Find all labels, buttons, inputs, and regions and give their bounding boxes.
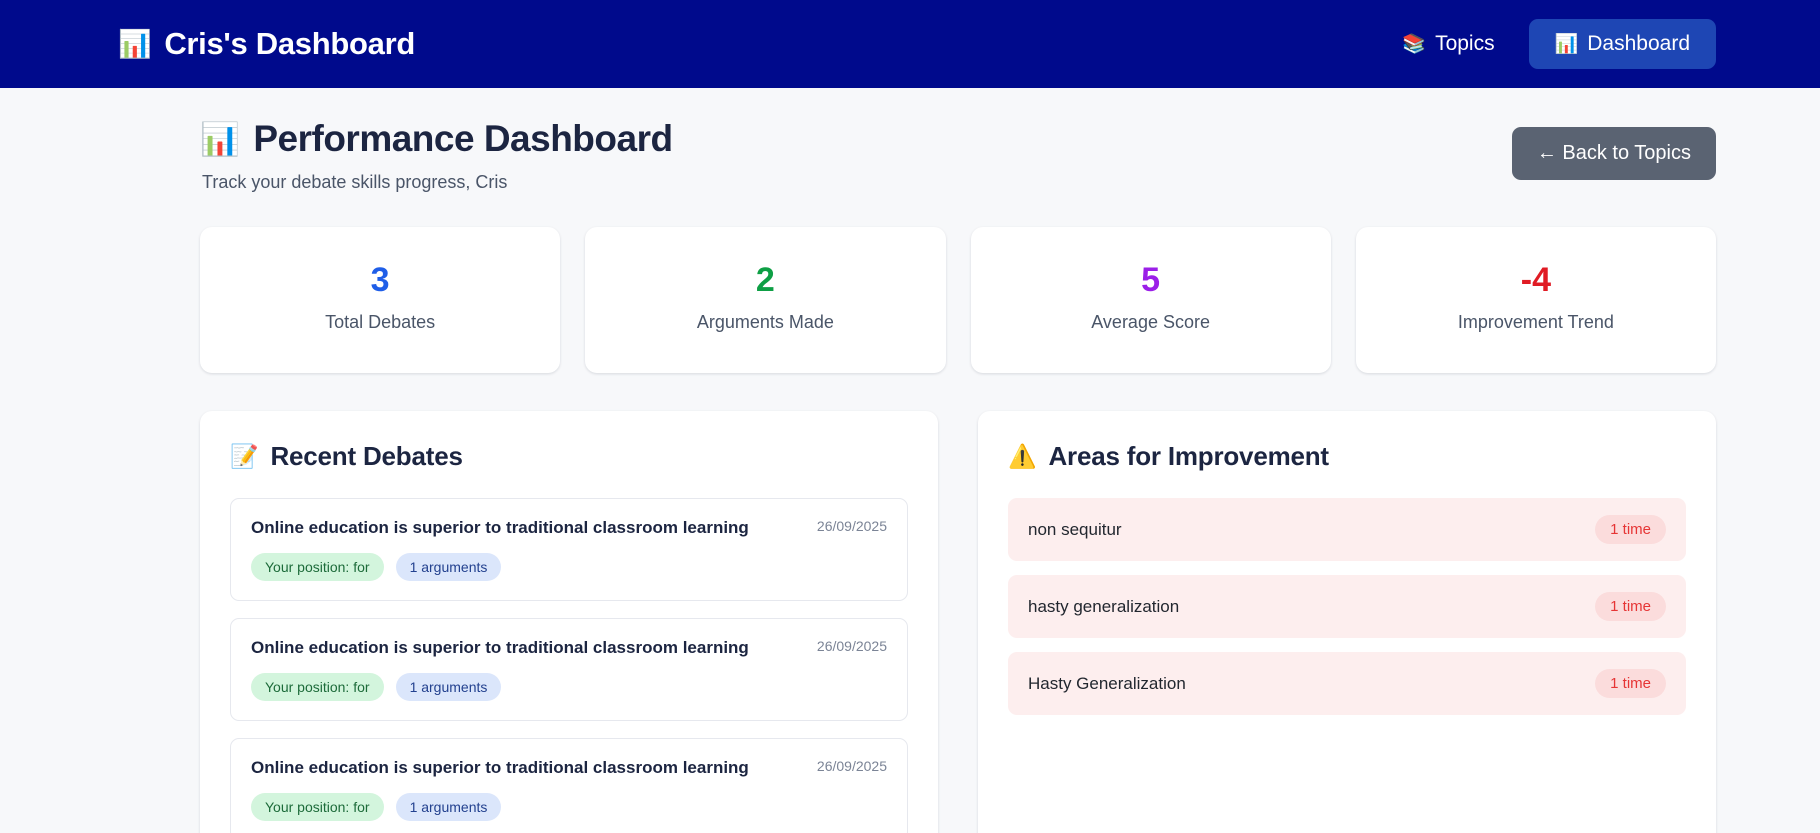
- nav-links: 📚 Topics 📊 Dashboard: [1388, 19, 1716, 69]
- bar-chart-icon: 📊: [118, 31, 151, 58]
- debate-row: Online education is superior to traditio…: [251, 517, 887, 539]
- debate-date: 26/09/2025: [817, 517, 887, 534]
- recent-debates-title-text: Recent Debates: [270, 441, 462, 472]
- areas-for-improvement-title-text: Areas for Improvement: [1048, 441, 1328, 472]
- stat-card-arguments-made: 2 Arguments Made: [585, 227, 945, 373]
- arguments-badge: 1 arguments: [396, 553, 502, 581]
- nav-item-topics-label: Topics: [1435, 32, 1495, 56]
- page-heading-group: 📊 Performance Dashboard Track your debat…: [200, 118, 673, 193]
- areas-for-improvement-panel: ⚠️ Areas for Improvement non sequitur 1 …: [978, 411, 1716, 833]
- debate-list-item[interactable]: Online education is superior to traditio…: [230, 498, 908, 601]
- page-header: 📊 Performance Dashboard Track your debat…: [200, 118, 1716, 193]
- stat-value: 2: [605, 261, 925, 300]
- stat-label: Arguments Made: [605, 312, 925, 333]
- memo-icon: 📝: [230, 445, 258, 468]
- debate-date: 26/09/2025: [817, 757, 887, 774]
- debate-badges: Your position: for 1 arguments: [251, 553, 887, 581]
- stat-value: -4: [1376, 261, 1696, 300]
- bar-chart-icon: 📊: [200, 123, 239, 155]
- panels: 📝 Recent Debates Online education is sup…: [200, 411, 1716, 833]
- back-to-topics-button[interactable]: ← Back to Topics: [1512, 127, 1716, 180]
- improvement-count-badge: 1 time: [1595, 669, 1666, 698]
- improvement-name: non sequitur: [1028, 520, 1122, 540]
- debate-title: Online education is superior to traditio…: [251, 757, 749, 779]
- debate-list-item[interactable]: Online education is superior to traditio…: [230, 618, 908, 721]
- page-title: 📊 Performance Dashboard: [200, 118, 673, 160]
- position-badge: Your position: for: [251, 553, 384, 581]
- brand-title: Cris's Dashboard: [164, 26, 415, 62]
- nav-item-dashboard[interactable]: 📊 Dashboard: [1529, 19, 1716, 69]
- recent-debates-title: 📝 Recent Debates: [230, 441, 908, 472]
- stat-label: Total Debates: [220, 312, 540, 333]
- bar-chart-icon: 📊: [1555, 35, 1579, 54]
- arguments-badge: 1 arguments: [396, 793, 502, 821]
- warning-icon: ⚠️: [1008, 445, 1036, 468]
- page-title-text: Performance Dashboard: [253, 118, 672, 160]
- improvement-list-item: hasty generalization 1 time: [1008, 575, 1686, 638]
- debate-list-item[interactable]: Online education is superior to traditio…: [230, 738, 908, 833]
- stat-value: 5: [991, 261, 1311, 300]
- debate-date: 26/09/2025: [817, 637, 887, 654]
- improvement-name: Hasty Generalization: [1028, 674, 1186, 694]
- nav-item-topics[interactable]: 📚 Topics: [1388, 22, 1508, 66]
- books-icon: 📚: [1402, 35, 1426, 54]
- stat-label: Improvement Trend: [1376, 312, 1696, 333]
- debate-title: Online education is superior to traditio…: [251, 517, 749, 539]
- debate-badges: Your position: for 1 arguments: [251, 793, 887, 821]
- nav-item-dashboard-label: Dashboard: [1587, 32, 1690, 56]
- areas-for-improvement-title: ⚠️ Areas for Improvement: [1008, 441, 1686, 472]
- stat-card-average-score: 5 Average Score: [971, 227, 1331, 373]
- page-subtitle: Track your debate skills progress, Cris: [202, 172, 673, 193]
- debate-row: Online education is superior to traditio…: [251, 757, 887, 779]
- debate-badges: Your position: for 1 arguments: [251, 673, 887, 701]
- improvement-list-item: Hasty Generalization 1 time: [1008, 652, 1686, 715]
- improvement-count-badge: 1 time: [1595, 592, 1666, 621]
- stat-card-total-debates: 3 Total Debates: [200, 227, 560, 373]
- debate-title: Online education is superior to traditio…: [251, 637, 749, 659]
- top-navbar: 📊 Cris's Dashboard 📚 Topics 📊 Dashboard: [0, 0, 1820, 88]
- recent-debates-panel: 📝 Recent Debates Online education is sup…: [200, 411, 938, 833]
- improvement-name: hasty generalization: [1028, 597, 1179, 617]
- stat-card-improvement-trend: -4 Improvement Trend: [1356, 227, 1716, 373]
- page-content: 📊 Performance Dashboard Track your debat…: [0, 88, 1820, 833]
- stat-value: 3: [220, 261, 540, 300]
- arguments-badge: 1 arguments: [396, 673, 502, 701]
- debate-row: Online education is superior to traditio…: [251, 637, 887, 659]
- position-badge: Your position: for: [251, 673, 384, 701]
- stat-label: Average Score: [991, 312, 1311, 333]
- improvement-count-badge: 1 time: [1595, 515, 1666, 544]
- brand[interactable]: 📊 Cris's Dashboard: [118, 26, 415, 62]
- position-badge: Your position: for: [251, 793, 384, 821]
- stat-cards: 3 Total Debates 2 Arguments Made 5 Avera…: [200, 227, 1716, 373]
- improvement-list-item: non sequitur 1 time: [1008, 498, 1686, 561]
